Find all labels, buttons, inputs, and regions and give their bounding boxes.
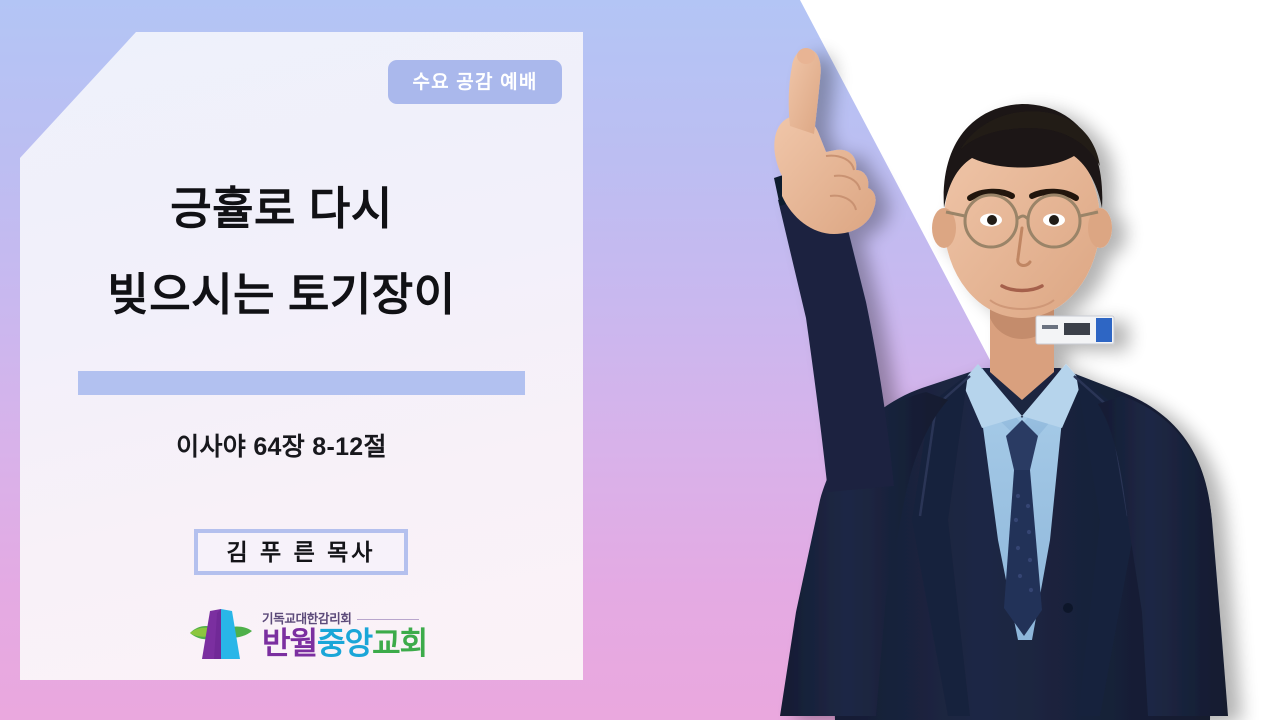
sermon-title-line-1: 긍휼로 다시: [0, 186, 563, 231]
church-name-part-1: 반월: [262, 626, 317, 661]
speaker-name-box: 김 푸 른 목사: [194, 529, 408, 575]
speaker-name: 김 푸 른 목사: [227, 541, 376, 564]
logo-wordmarks: 기독교대한감리회 반월중앙교회: [262, 609, 427, 659]
sermon-title-line-2: 빚으시는 토기장이: [0, 272, 563, 317]
church-cross-mark-icon: [188, 601, 254, 667]
scripture-reference: 이사야 64장 8-12절: [0, 432, 563, 462]
church-name-part-2: 중앙: [317, 626, 372, 661]
service-type-badge: 수요 공감 예배: [388, 60, 562, 104]
name-tag-icon: [1036, 316, 1114, 344]
church-logo: 기독교대한감리회 반월중앙교회: [188, 598, 428, 670]
denomination-row: 기독교대한감리회: [262, 613, 427, 626]
speaker-photo: [630, 0, 1280, 720]
lapel-pin-icon: [1047, 230, 1061, 244]
accent-bar: [78, 371, 525, 395]
sermon-title: 긍휼로 다시 빚으시는 토기장이: [0, 186, 563, 317]
denomination-rule: [357, 619, 419, 620]
church-name-part-3: 교회: [372, 626, 427, 661]
denomination-name: 기독교대한감리회: [262, 613, 352, 626]
info-card: [20, 32, 583, 680]
church-name: 반월중앙교회: [262, 628, 427, 659]
sermon-title-card: 수요 공감 예배 긍휼로 다시 빚으시는 토기장이 이사야 64장 8-12절 …: [0, 0, 1280, 720]
